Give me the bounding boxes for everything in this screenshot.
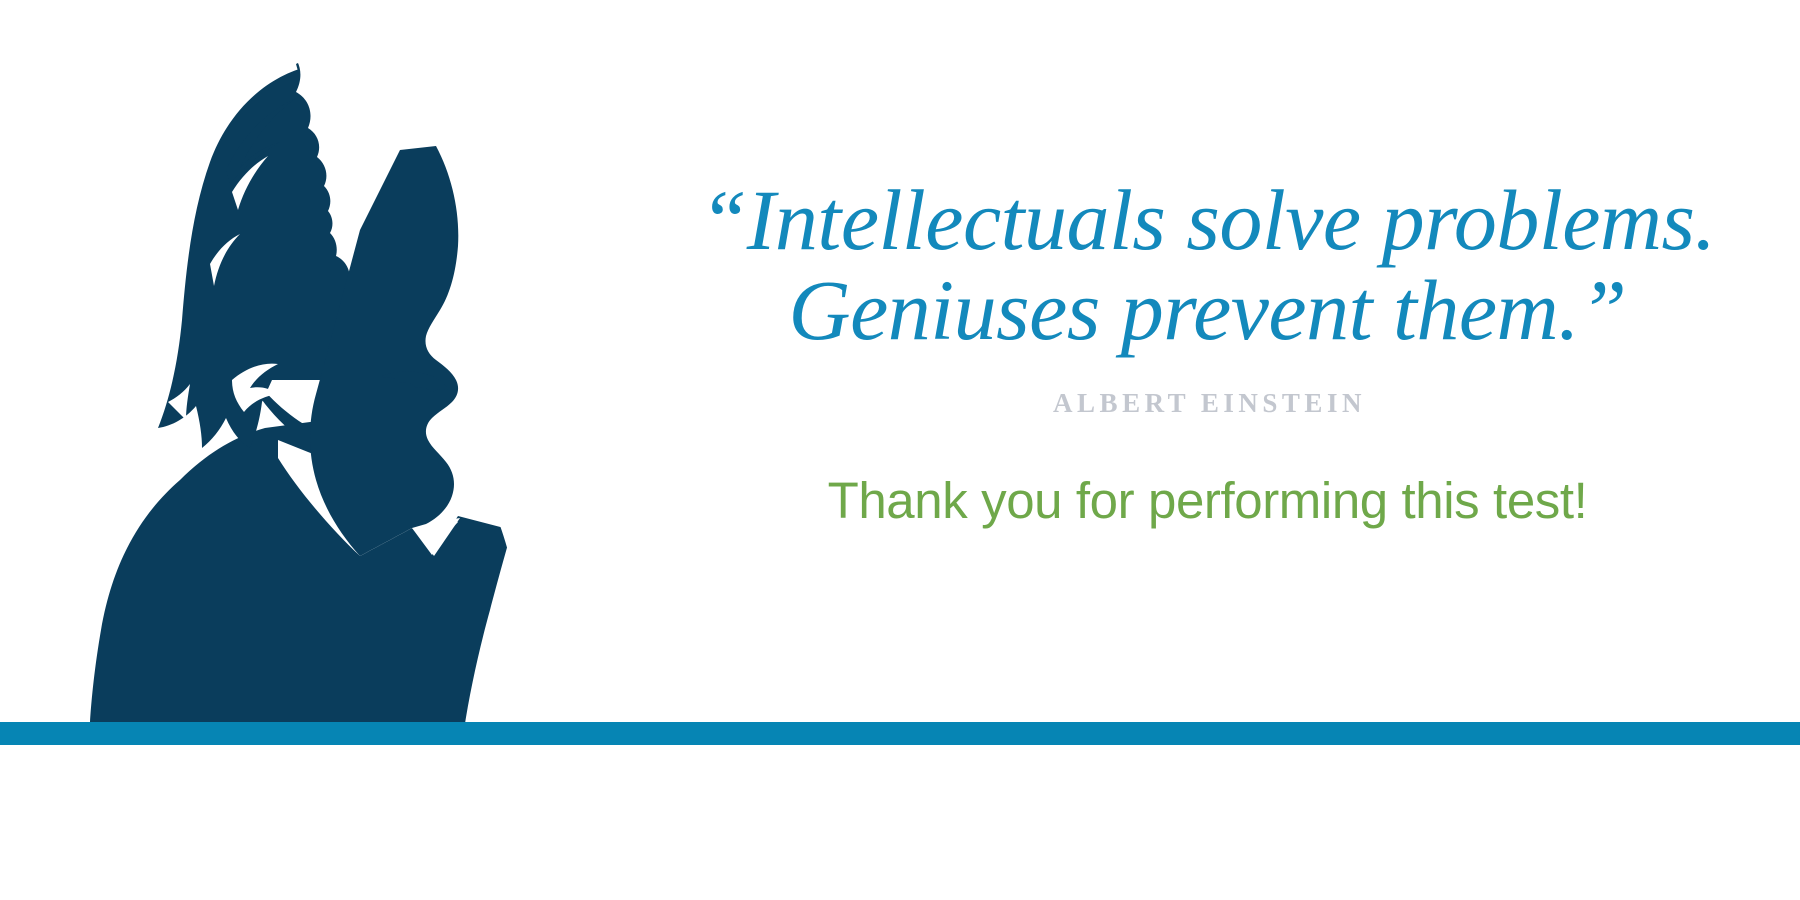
quote-line-1: “Intellectuals solve problems. [660,175,1755,265]
thank-you-message: Thank you for performing this test! [660,475,1755,526]
einstein-silhouette-illustration [60,50,560,730]
quote-line-2: Geniuses prevent them.” [660,265,1755,355]
quote-text: “Intellectuals solve problems. Geniuses … [660,175,1755,356]
quote-attribution: ALBERT EINSTEIN [660,390,1755,417]
slide-canvas: “Intellectuals solve problems. Geniuses … [0,0,1800,900]
quote-text-block: “Intellectuals solve problems. Geniuses … [660,175,1755,526]
bottom-accent-bar [0,722,1800,745]
